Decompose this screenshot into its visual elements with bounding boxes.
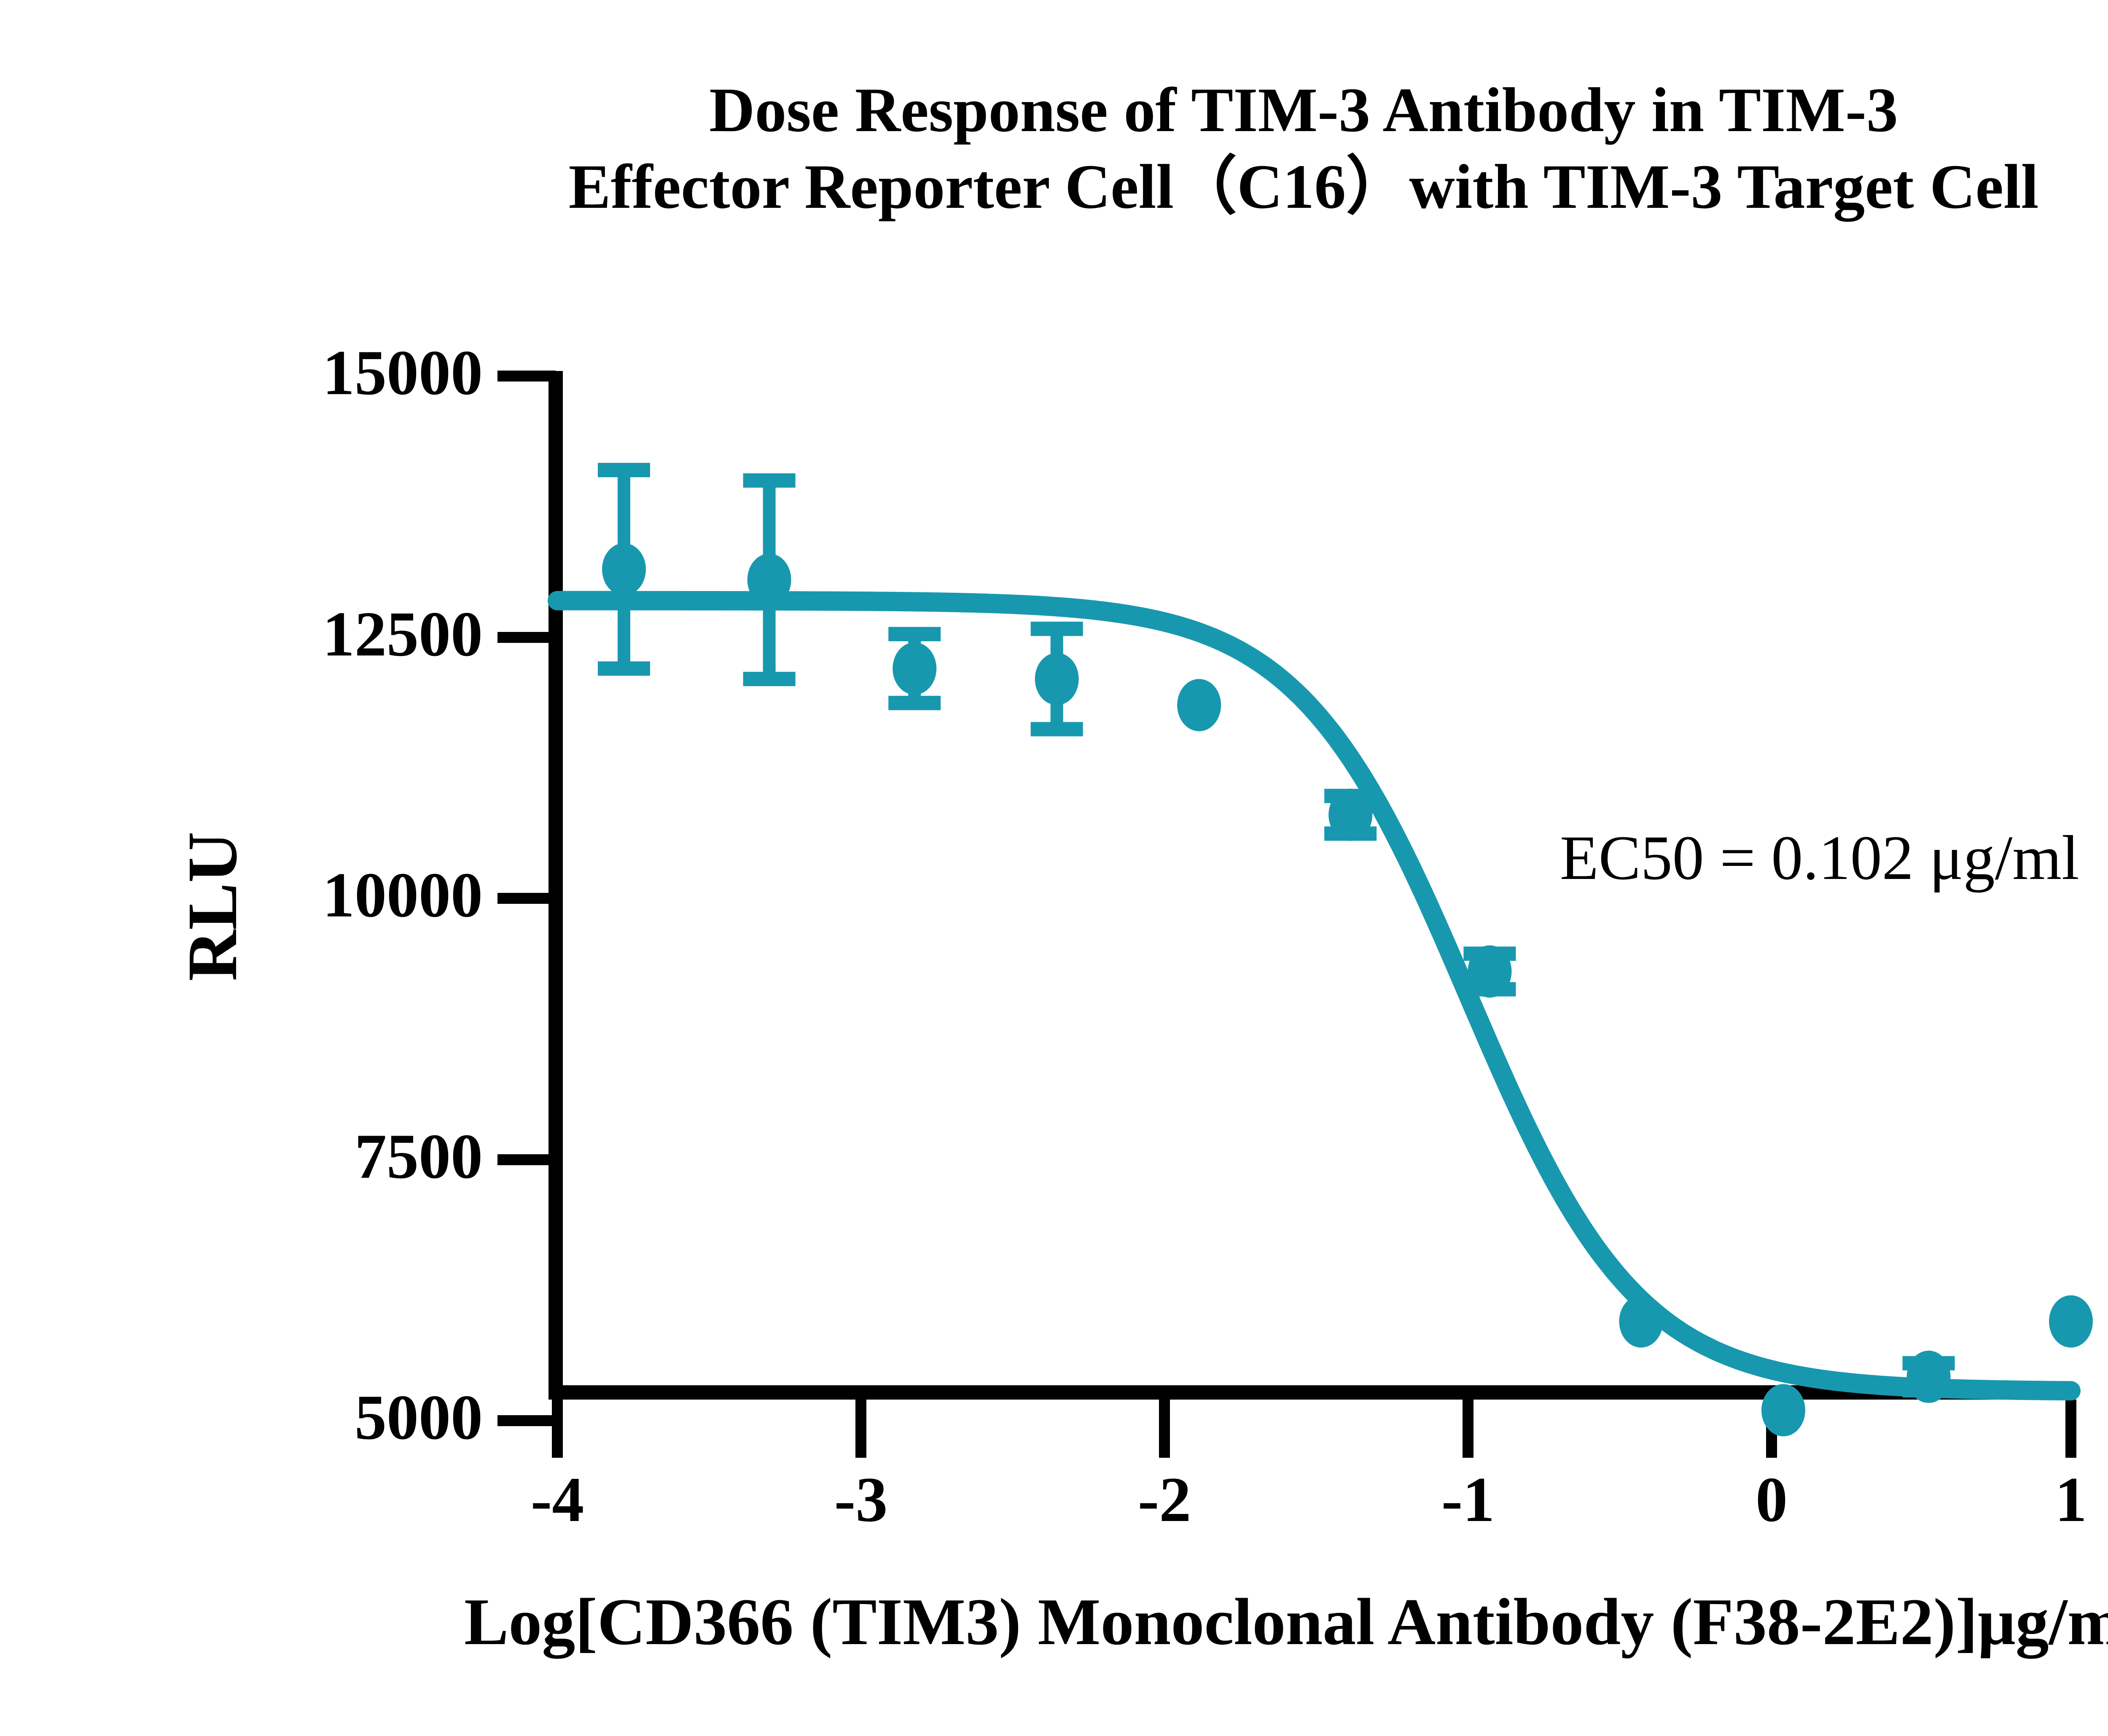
y-tick-label-15000: 15000: [323, 337, 483, 408]
data-point: [2049, 1295, 2093, 1348]
x-tick-label-neg1: -1: [1441, 1464, 1495, 1535]
data-point: [1907, 1351, 1951, 1403]
x-tick-label-neg4: -4: [531, 1464, 584, 1535]
y-axis-label: RLU: [173, 832, 252, 981]
x-axis-label: Log[CD366 (TIM3) Monoclonal Antibody (F3…: [464, 1585, 2108, 1659]
y-tick-label-5000: 5000: [355, 1382, 483, 1453]
x-tick-label-neg3: -3: [834, 1464, 888, 1535]
data-point: [1177, 679, 1221, 731]
data-point: [893, 642, 936, 695]
data-point: [1328, 789, 1372, 841]
y-tick-label-12500: 12500: [323, 599, 483, 669]
data-point: [1761, 1384, 1805, 1436]
data-point: [602, 543, 646, 595]
x-tick-labels: -4 -3 -2 -1 0 1: [531, 1464, 2087, 1535]
y-tick-labels: 15000 12500 10000 7500 5000: [323, 337, 483, 1453]
y-tick-label-10000: 10000: [323, 860, 483, 930]
plot-area: 15000 12500 10000 7500 5000 -4 -3 -2 -: [0, 0, 2108, 1736]
x-tick-label-one: 1: [2055, 1464, 2087, 1535]
x-tick-label-neg2: -2: [1138, 1464, 1191, 1535]
fit-curve-group: [557, 601, 2071, 1391]
ec50-annotation: EC50 = 0.102 μg/ml: [1560, 823, 2079, 893]
data-point: [1468, 945, 1511, 997]
data-points-group: [602, 543, 2093, 1436]
data-point: [1619, 1295, 1663, 1348]
dose-response-plot: 15000 12500 10000 7500 5000 -4 -3 -2 -: [0, 0, 2108, 1736]
data-point: [1035, 653, 1079, 705]
fit-curve: [557, 601, 2071, 1391]
y-tick-marks: [497, 376, 556, 1421]
data-point: [747, 554, 791, 606]
x-tick-marks: [557, 1400, 2071, 1458]
x-tick-label-zero: 0: [1756, 1464, 1788, 1535]
chart-page: Dose Response of TIM-3 Antibody in TIM-3…: [0, 0, 2108, 1736]
y-tick-label-7500: 7500: [355, 1121, 483, 1192]
